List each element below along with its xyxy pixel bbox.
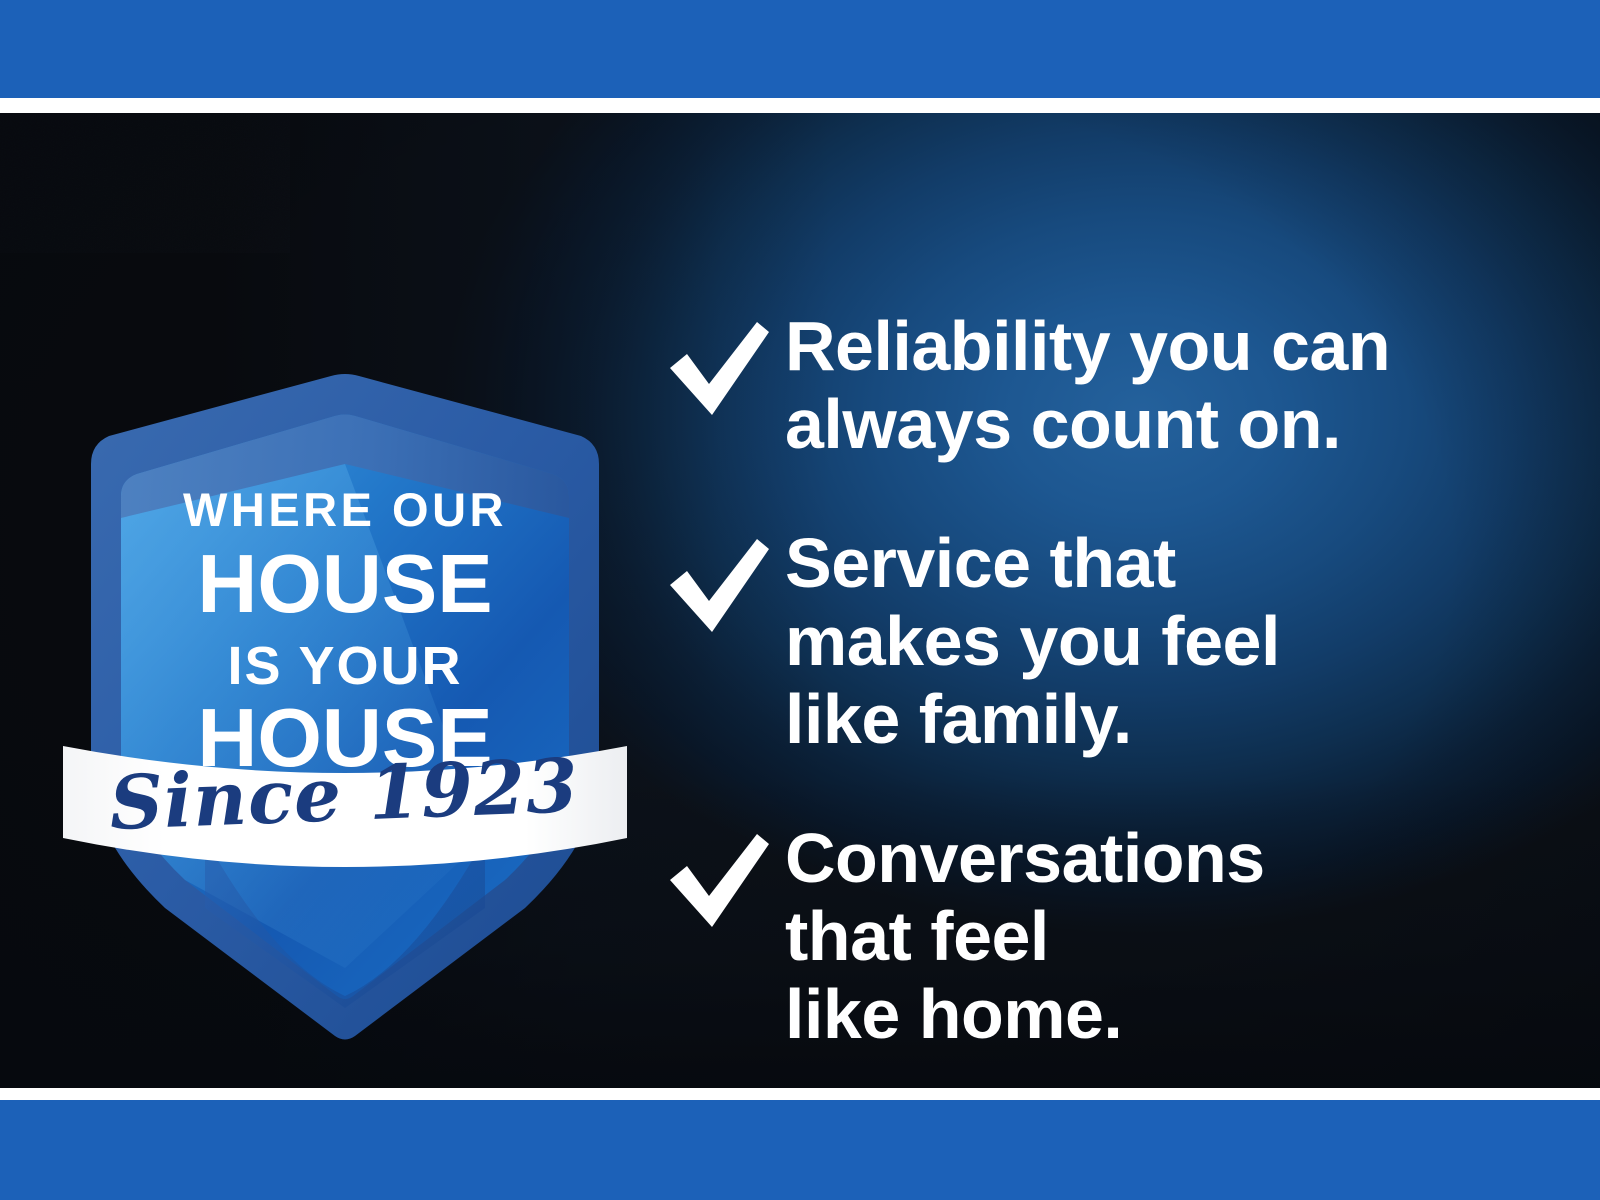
badge-tagline-line-2: HOUSE — [197, 537, 492, 630]
check-icon — [665, 830, 785, 934]
badge-tagline-line-1: WHERE OUR — [183, 483, 507, 536]
background-noise-texture — [0, 113, 290, 253]
main-panel: WHERE OUR HOUSE IS YOUR HOUSE Since 1923… — [0, 113, 1600, 1088]
list-item: Conversationsthat feellike home. — [665, 820, 1545, 1053]
list-item-label: Service thatmakes you feellike family. — [785, 525, 1545, 758]
badge-tagline-line-3: IS YOUR — [227, 636, 462, 696]
badge-ribbon-text: Since 1923 — [108, 743, 580, 847]
list-item: Service thatmakes you feellike family. — [665, 525, 1545, 758]
benefit-list: Reliability you canalways count on. Serv… — [665, 308, 1545, 1054]
list-item-label: Reliability you canalways count on. — [785, 308, 1545, 463]
check-icon — [665, 318, 785, 422]
top-brand-bar — [0, 0, 1600, 98]
list-item-label: Conversationsthat feellike home. — [785, 820, 1545, 1053]
check-icon — [665, 535, 785, 639]
bottom-brand-bar — [0, 1100, 1600, 1200]
promo-graphic: WHERE OUR HOUSE IS YOUR HOUSE Since 1923… — [0, 0, 1600, 1200]
company-badge: WHERE OUR HOUSE IS YOUR HOUSE Since 1923 — [55, 368, 635, 1048]
list-item: Reliability you canalways count on. — [665, 308, 1545, 463]
